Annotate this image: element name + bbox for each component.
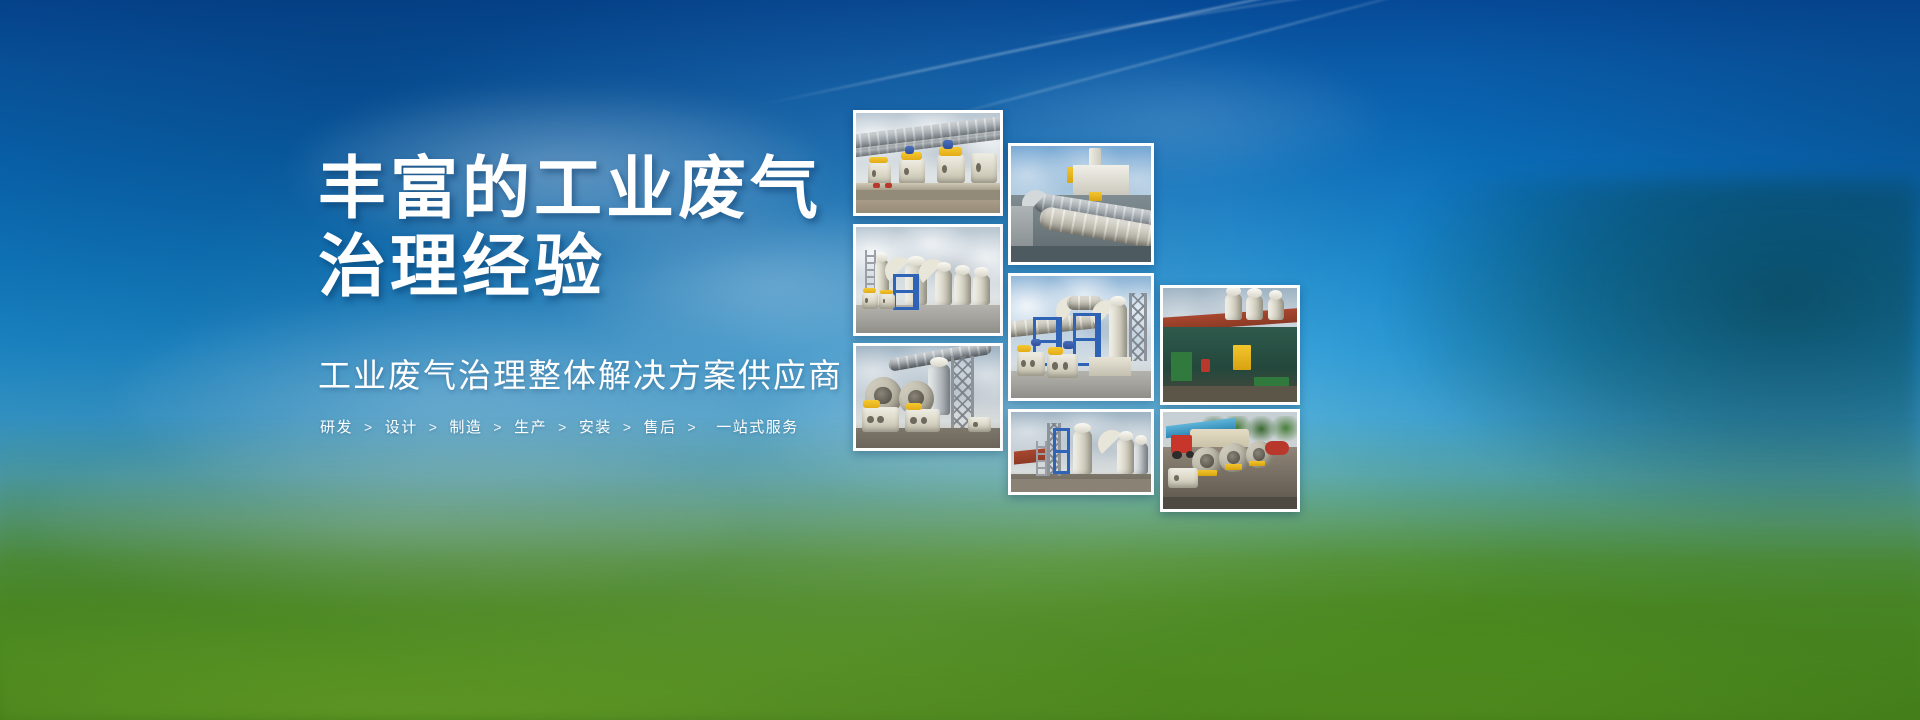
collage-photo-7 <box>1160 285 1300 405</box>
process-step-final: 一站式服务 <box>706 416 801 437</box>
hero-banner: 丰富的工业废气 治理经验 工业废气治理整体解决方案供应商 研发 > 设计 > 制… <box>0 0 1920 720</box>
hero-copy-block: 丰富的工业废气 治理经验 工业废气治理整体解决方案供应商 研发 > 设计 > 制… <box>318 150 918 437</box>
collage-photo-5 <box>1008 273 1154 401</box>
hero-subtitle: 工业废气治理整体解决方案供应商 <box>318 354 918 398</box>
collage-photo-4 <box>1008 143 1154 265</box>
process-step-4: 生产 <box>512 416 549 437</box>
photo-collage <box>0 0 1920 720</box>
process-step-1: 研发 <box>318 416 355 437</box>
hero-headline-line-1: 丰富的工业废气 <box>318 150 918 228</box>
process-step-5: 安装 <box>577 416 614 437</box>
process-step-2: 设计 <box>383 416 420 437</box>
collage-photo-8 <box>1160 409 1300 512</box>
process-step-list: 研发 > 设计 > 制造 > 生产 > 安装 > 售后 > 一站式服务 <box>318 416 918 437</box>
chevron-separator-icon: > <box>614 419 642 435</box>
chevron-separator-icon: > <box>549 419 577 435</box>
process-step-3: 制造 <box>447 416 484 437</box>
collage-photo-6 <box>1008 409 1154 495</box>
hero-headline: 丰富的工业废气 治理经验 <box>318 150 918 306</box>
hero-headline-line-2: 治理经验 <box>318 228 918 306</box>
chevron-separator-icon: > <box>420 419 448 435</box>
chevron-separator-icon: > <box>484 419 512 435</box>
chevron-separator-icon: > <box>679 419 707 435</box>
process-step-6: 售后 <box>642 416 679 437</box>
chevron-separator-icon: > <box>355 419 383 435</box>
